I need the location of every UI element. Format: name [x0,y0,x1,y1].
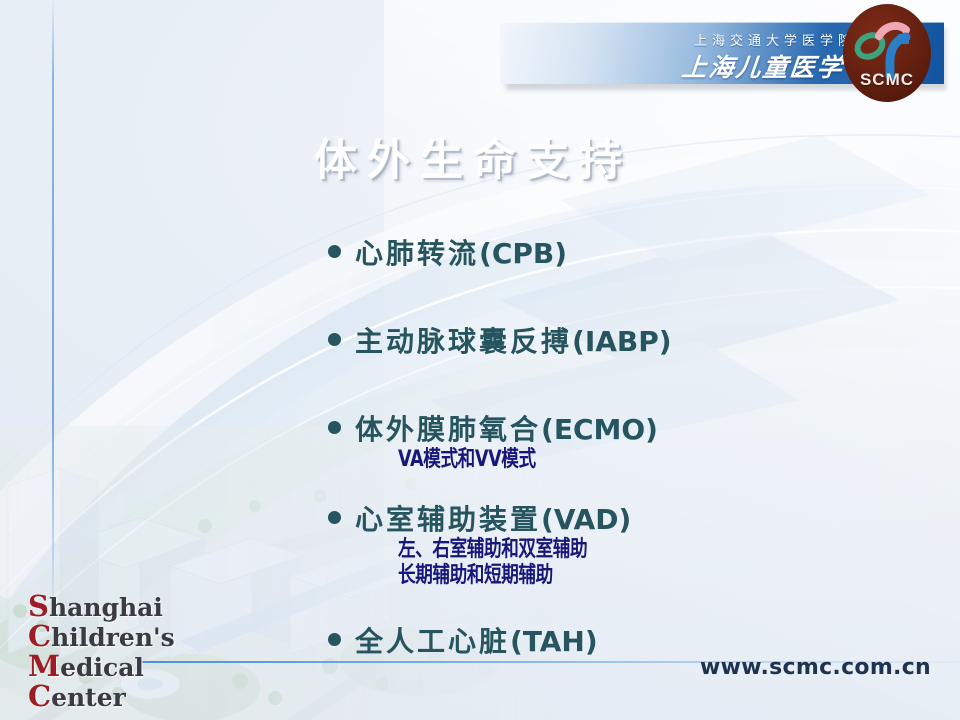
scmc-logo: SCMC [843,4,931,102]
bullet-item-cpb: 心肺转流(CPB) [328,232,567,272]
bullet-text-tah: 全人工心脏 [355,625,510,658]
bullet-item-ecmo: 体外膜肺氧合(ECMO) [328,408,658,448]
bullet-abbrev-iabp: (IABP) [572,325,672,358]
bullet-text-iabp: 主动脉球囊反搏 [355,325,572,358]
scmc-wordmark: Shanghai Children's Medical Center [28,592,175,711]
bullet-dot-icon [328,245,341,258]
bullet-dot-icon [328,511,341,524]
wordmark-line-childrens: Children's [28,622,175,652]
bullet-abbrev-ecmo: (ECMO) [541,413,658,446]
bullet-item-tah: 全人工心脏(TAH) [328,620,598,660]
bullet-item-iabp: 主动脉球囊反搏(IABP) [328,320,672,360]
wordmark-rest-medical: edical [60,653,144,682]
bullet-label-ecmo: 体外膜肺氧合(ECMO) [355,408,658,448]
wordmark-rest-center: enter [51,683,126,712]
wordmark-line-medical: Medical [28,652,175,682]
subtext-vad-types: 左、右室辅助和双室辅助 长期辅助和短期辅助 [398,537,702,589]
subtext-ecmo-modes: VA模式和VV模式 [398,447,590,473]
bullet-text-vad: 心室辅助装置 [355,503,541,536]
footer-website-url[interactable]: www.scmc.com.cn [700,655,931,680]
bullet-label-cpb: 心肺转流(CPB) [355,232,567,272]
slide-title: 体外生命支持 [314,126,632,188]
bullet-dot-icon [328,633,341,646]
wordmark-rest-childrens: hildren's [51,623,175,652]
left-vertical-accent-line [52,0,54,596]
logo-wordmark: SCMC [843,70,931,90]
bullet-text-ecmo: 体外膜肺氧合 [355,413,541,446]
banner-institution-name: 上海儿童医学中心 [498,48,900,84]
bullet-label-iabp: 主动脉球囊反搏(IABP) [355,320,672,360]
wordmark-rest-shanghai: hanghai [49,593,163,622]
presentation-slide: 上海交通大学医学院附属 上海儿童医学中心 SCMC 体外生命支持 心肺转流(CP… [0,0,960,720]
bullet-label-tah: 全人工心脏(TAH) [355,620,598,660]
bullet-dot-icon [328,333,341,346]
bullet-abbrev-cpb: (CPB) [479,237,567,270]
banner-affiliation-text: 上海交通大学医学院附属 [500,30,892,49]
bullet-abbrev-tah: (TAH) [510,625,598,658]
wordmark-line-center: Center [28,682,175,712]
bullet-dot-icon [328,421,341,434]
bullet-text-cpb: 心肺转流 [355,237,479,270]
bullet-abbrev-vad: (VAD) [541,503,631,536]
wordmark-line-shanghai: Shanghai [28,592,175,622]
bullet-item-vad: 心室辅助装置(VAD) [328,498,631,538]
bullet-label-vad: 心室辅助装置(VAD) [355,498,631,538]
wordmark-cap-c2: C [28,679,51,713]
